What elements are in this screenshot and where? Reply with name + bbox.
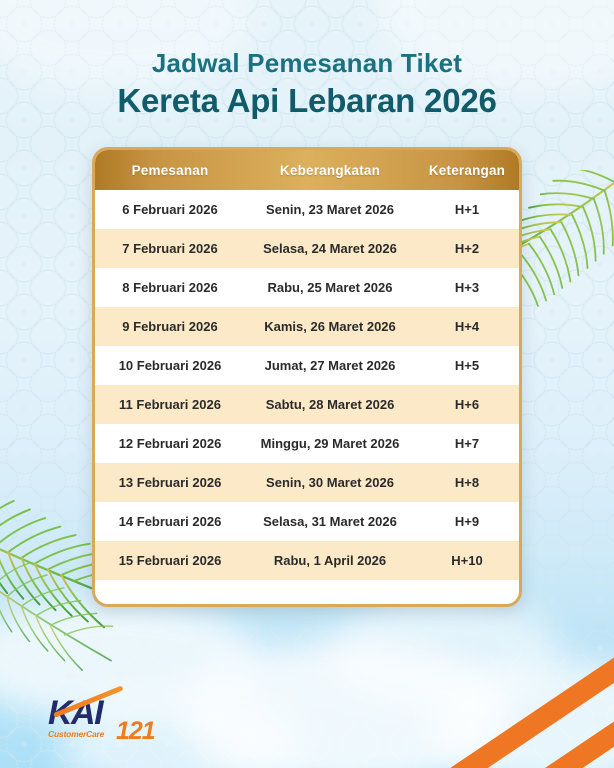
- kai-customercare-logo: KAI CustomerCare 121: [48, 696, 102, 730]
- cell-keberangkatan: Senin, 30 Maret 2026: [245, 475, 415, 490]
- cloud-decoration: [180, 640, 510, 768]
- cell-keterangan: H+6: [415, 397, 519, 412]
- title-line-1: Jadwal Pemesanan Tiket: [0, 48, 614, 79]
- orange-stripe-decoration: [492, 636, 614, 768]
- poster-canvas: Jadwal Pemesanan Tiket Kereta Api Lebara…: [0, 0, 614, 768]
- cell-keberangkatan: Rabu, 1 April 2026: [245, 553, 415, 568]
- table-row: 12 Februari 2026Minggu, 29 Maret 2026H+7: [95, 424, 519, 463]
- table-row: 8 Februari 2026Rabu, 25 Maret 2026H+3: [95, 268, 519, 307]
- cell-pemesanan: 6 Februari 2026: [95, 202, 245, 217]
- table-body: 6 Februari 2026Senin, 23 Maret 2026H+17 …: [95, 190, 519, 580]
- cell-keterangan: H+5: [415, 358, 519, 373]
- cloud-decoration: [430, 660, 614, 768]
- cell-keterangan: H+4: [415, 319, 519, 334]
- table-row: 14 Februari 2026Selasa, 31 Maret 2026H+9: [95, 502, 519, 541]
- table-footer-spacer: [95, 580, 519, 607]
- cell-keterangan: H+2: [415, 241, 519, 256]
- cell-keterangan: H+9: [415, 514, 519, 529]
- table-row: 10 Februari 2026Jumat, 27 Maret 2026H+5: [95, 346, 519, 385]
- cloud-decoration: [330, 596, 560, 706]
- cell-pemesanan: 10 Februari 2026: [95, 358, 245, 373]
- title-line-2: Kereta Api Lebaran 2026: [0, 80, 614, 121]
- cell-pemesanan: 13 Februari 2026: [95, 475, 245, 490]
- column-header-pemesanan: Pemesanan: [95, 163, 245, 178]
- logo-number-121: 121: [116, 719, 155, 744]
- table-row: 7 Februari 2026Selasa, 24 Maret 2026H+2: [95, 229, 519, 268]
- cell-keterangan: H+1: [415, 202, 519, 217]
- cell-keterangan: H+8: [415, 475, 519, 490]
- cell-keberangkatan: Senin, 23 Maret 2026: [245, 202, 415, 217]
- schedule-table-card: Pemesanan Keberangkatan Keterangan 6 Feb…: [92, 147, 522, 607]
- cloud-decoration: [0, 600, 260, 720]
- table-row: 13 Februari 2026Senin, 30 Maret 2026H+8: [95, 463, 519, 502]
- cell-keberangkatan: Minggu, 29 Maret 2026: [245, 436, 415, 451]
- table-header-row: Pemesanan Keberangkatan Keterangan: [95, 150, 519, 190]
- cell-keberangkatan: Selasa, 24 Maret 2026: [245, 241, 415, 256]
- page-title: Jadwal Pemesanan Tiket Kereta Api Lebara…: [0, 48, 614, 121]
- cell-keberangkatan: Rabu, 25 Maret 2026: [245, 280, 415, 295]
- cell-pemesanan: 9 Februari 2026: [95, 319, 245, 334]
- cell-pemesanan: 14 Februari 2026: [95, 514, 245, 529]
- cell-pemesanan: 12 Februari 2026: [95, 436, 245, 451]
- column-header-keterangan: Keterangan: [415, 163, 519, 178]
- table-row: 15 Februari 2026Rabu, 1 April 2026H+10: [95, 541, 519, 580]
- cell-keberangkatan: Selasa, 31 Maret 2026: [245, 514, 415, 529]
- table-row: 9 Februari 2026Kamis, 26 Maret 2026H+4: [95, 307, 519, 346]
- cell-pemesanan: 7 Februari 2026: [95, 241, 245, 256]
- cell-keberangkatan: Kamis, 26 Maret 2026: [245, 319, 415, 334]
- cell-pemesanan: 15 Februari 2026: [95, 553, 245, 568]
- cell-pemesanan: 11 Februari 2026: [95, 397, 245, 412]
- cell-pemesanan: 8 Februari 2026: [95, 280, 245, 295]
- table-row: 6 Februari 2026Senin, 23 Maret 2026H+1: [95, 190, 519, 229]
- cell-keterangan: H+3: [415, 280, 519, 295]
- cell-keterangan: H+7: [415, 436, 519, 451]
- table-row: 11 Februari 2026Sabtu, 28 Maret 2026H+6: [95, 385, 519, 424]
- customercare-label: CustomerCare: [48, 729, 104, 739]
- cell-keterangan: H+10: [415, 553, 519, 568]
- column-header-keberangkatan: Keberangkatan: [245, 163, 415, 178]
- cell-keberangkatan: Sabtu, 28 Maret 2026: [245, 397, 415, 412]
- orange-stripe-decoration: [412, 609, 614, 768]
- cell-keberangkatan: Jumat, 27 Maret 2026: [245, 358, 415, 373]
